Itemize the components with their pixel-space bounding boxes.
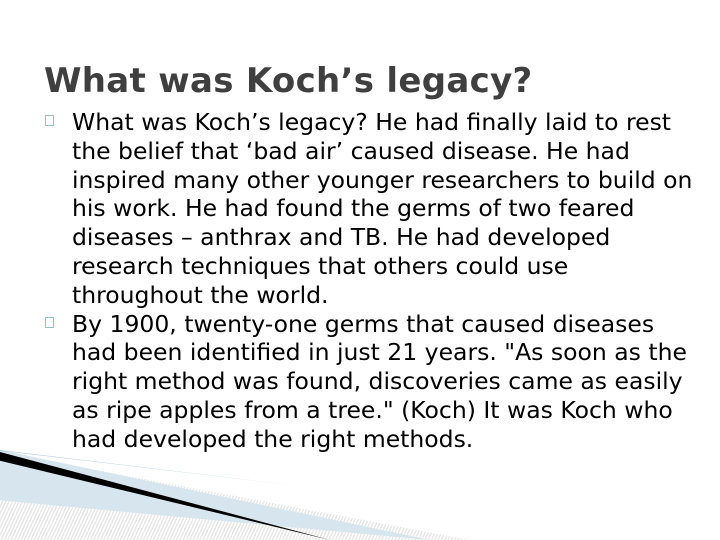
page-title: What was Koch’s legacy? [44,59,684,103]
list-item[interactable]: What was Koch’s legacy? He had finally l… [40,108,696,310]
hollow-square-bullet-icon [45,115,54,126]
slide-canvas: What was Koch’s legacy? What was Koch’s … [0,0,720,540]
decorative-black-wedge [0,452,330,540]
decorative-stripe-triangle [0,452,470,540]
hollow-square-bullet-icon [45,317,54,328]
decorative-hairline [0,450,300,486]
list-item[interactable]: By 1900, twenty-one germs that caused di… [40,310,696,454]
list-item-text: What was Koch’s legacy? He had finally l… [72,108,696,310]
bullet-list: What was Koch’s legacy? He had finally l… [40,108,696,454]
decorative-blue-wedge [0,450,430,540]
list-item-text: By 1900, twenty-one germs that caused di… [72,310,696,454]
